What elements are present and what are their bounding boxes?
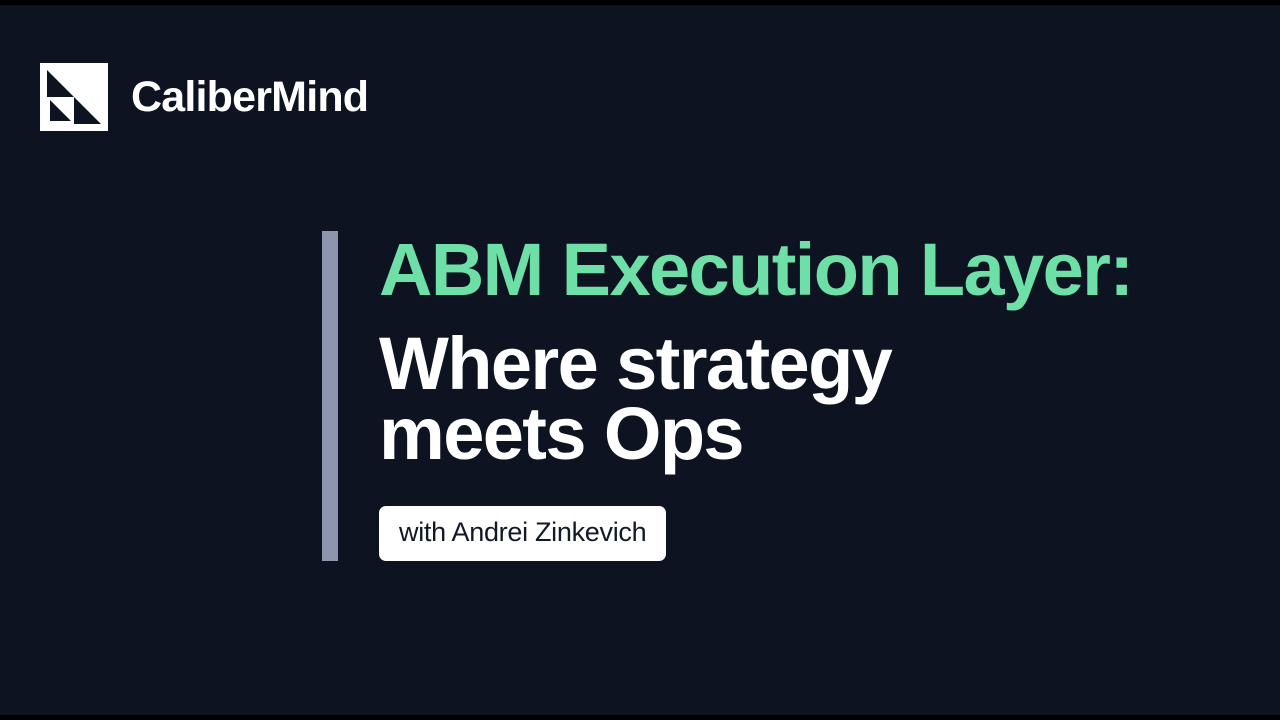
title-block: ABM Execution Layer: Where strategy meet… <box>322 231 1132 561</box>
speaker-badge: with Andrei Zinkevich <box>379 506 666 561</box>
letterbox-bar-bottom <box>0 715 1280 720</box>
title-text-group: ABM Execution Layer: Where strategy meet… <box>338 231 1132 561</box>
brand-lockup: CaliberMind <box>40 63 368 131</box>
title-accent-bar <box>322 231 338 561</box>
brand-wordmark: CaliberMind <box>131 76 368 119</box>
headline-accent-line: ABM Execution Layer: <box>379 233 1132 307</box>
calibermind-logo-mark <box>40 63 108 131</box>
title-card-stage: CaliberMind ABM Execution Layer: Where s… <box>0 5 1280 715</box>
headline-main-line: Where strategy meets Ops <box>379 329 979 470</box>
letterbox-bar-top <box>0 0 1280 5</box>
